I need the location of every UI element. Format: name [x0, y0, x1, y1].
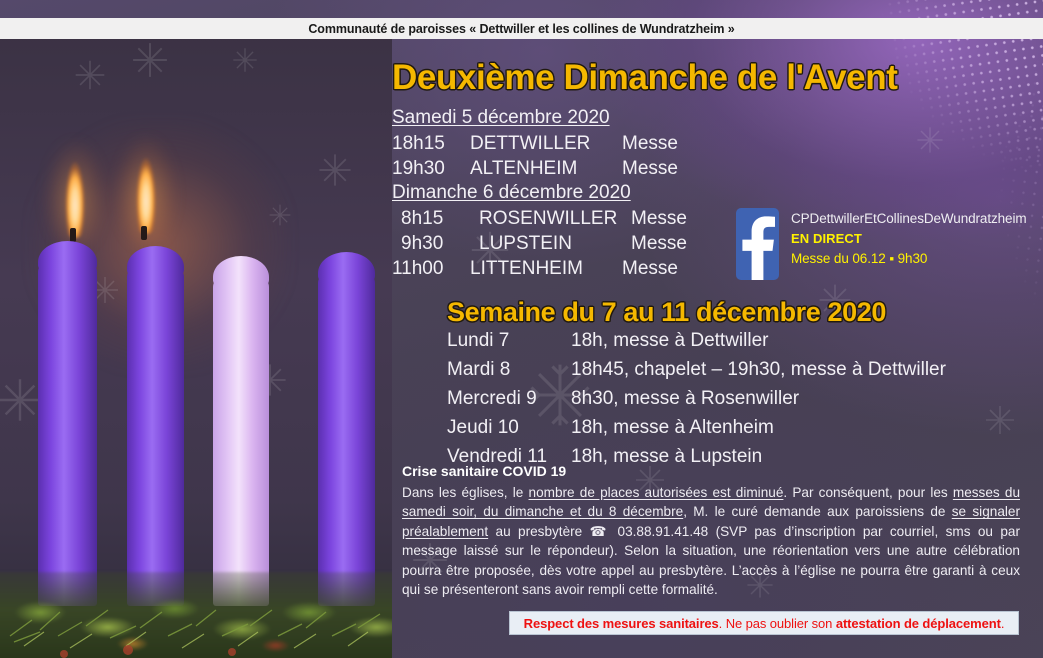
advent-candles-photo — [0, 30, 392, 658]
community-header-title: Communauté de paroisses « Dettwiller et … — [308, 22, 734, 36]
candle-flame-1 — [62, 152, 88, 238]
facebook-icon[interactable] — [736, 208, 779, 280]
telephone-icon: ☎ — [590, 524, 611, 539]
banner-end: . — [1001, 616, 1005, 631]
covid-notice: Crise sanitaire COVID 19 Dans les église… — [402, 463, 1020, 599]
facebook-page-name[interactable]: CPDettwillerEtCollinesDeWundratzheim — [791, 211, 1027, 226]
service-time: 9h30 — [392, 231, 479, 256]
weekday-row: Jeudi 10 18h, messe à Altenheim — [447, 413, 946, 442]
service-place: ALTENHEIM — [470, 156, 622, 181]
candle-wick-2 — [141, 226, 147, 240]
service-place: ROSENWILLER — [479, 206, 631, 231]
service-time: 8h15 — [392, 206, 479, 231]
sanitary-measures-banner: Respect des mesures sanitaires. Ne pas o… — [509, 611, 1019, 635]
banner-mid: . Ne pas oublier son — [719, 616, 836, 631]
schedule-row: 19h30 ALTENHEIM Messe — [392, 156, 712, 181]
candle-purple-1 — [38, 261, 97, 606]
covid-text-2: . Par conséquent, pour les — [783, 485, 952, 500]
candle-rose-3 — [213, 276, 269, 606]
covid-underline-1: nombre de places autorisées est diminué — [529, 485, 784, 500]
service-type: Messe — [622, 131, 712, 156]
facebook-live-block[interactable]: CPDettwillerEtCollinesDeWundratzheim EN … — [736, 208, 1027, 280]
week-title: Semaine du 7 au 11 décembre 2020 — [447, 297, 886, 328]
weekday-schedule: Lundi 7 18h, messe à Dettwiller Mardi 8 … — [447, 326, 946, 471]
banner-bold-1: Respect des mesures sanitaires — [524, 616, 719, 631]
weekday-info: 18h, messe à Dettwiller — [571, 326, 768, 355]
covid-text-4: au presbytère — [488, 524, 589, 539]
candle-purple-2 — [127, 266, 184, 606]
service-time: 11h00 — [392, 256, 470, 281]
covid-heading: Crise sanitaire COVID 19 — [402, 463, 1020, 479]
sunday-schedule: Dimanche 6 décembre 2020 8h15 ROSENWILLE… — [392, 182, 721, 281]
schedule-row: 9h30 LUPSTEIN Messe — [392, 231, 721, 256]
covid-phone-number: 03.88.91.41.48 — [610, 524, 708, 539]
banner-bold-2: attestation de déplacement — [836, 616, 1001, 631]
saturday-date: Samedi 5 décembre 2020 — [392, 107, 712, 129]
service-type: Messe — [622, 156, 712, 181]
weekday-info: 18h, messe à Altenheim — [571, 413, 774, 442]
candle-flame-2 — [133, 148, 159, 234]
weekday-info: 8h30, messe à Rosenwiller — [571, 384, 799, 413]
candle-wick-1 — [70, 228, 76, 242]
service-type: Messe — [622, 256, 712, 281]
covid-text-3: , M. le curé demande aux paroissiens de — [683, 504, 952, 519]
main-title: Deuxième Dimanche de l'Avent — [392, 58, 897, 98]
schedule-row: 18h15 DETTWILLER Messe — [392, 131, 712, 156]
sunday-date: Dimanche 6 décembre 2020 — [392, 182, 721, 204]
weekday-row: Mardi 8 18h45, chapelet – 19h30, messe à… — [447, 355, 946, 384]
community-header-bar: Communauté de paroisses « Dettwiller et … — [0, 18, 1043, 39]
facebook-live-label: EN DIRECT — [791, 231, 1027, 246]
service-type: Messe — [631, 231, 721, 256]
service-type: Messe — [631, 206, 721, 231]
weekday-name: Lundi 7 — [447, 326, 571, 355]
schedule-row: 8h15 ROSENWILLER Messe — [392, 206, 721, 231]
service-place: DETTWILLER — [470, 131, 622, 156]
service-place: LITTENHEIM — [470, 256, 622, 281]
service-time: 18h15 — [392, 131, 470, 156]
covid-body: Dans les églises, le nombre de places au… — [402, 483, 1020, 599]
facebook-live-detail: Messe du 06.12 ▪ 9h30 — [791, 251, 1027, 266]
service-place: LUPSTEIN — [479, 231, 631, 256]
service-time: 19h30 — [392, 156, 470, 181]
sanitary-measures-text: Respect des mesures sanitaires. Ne pas o… — [524, 616, 1005, 631]
schedule-row: 11h00 LITTENHEIM Messe — [392, 256, 721, 281]
advent-poster: Communauté de paroisses « Dettwiller et … — [0, 0, 1043, 658]
weekday-name: Jeudi 10 — [447, 413, 571, 442]
saturday-schedule: Samedi 5 décembre 2020 18h15 DETTWILLER … — [392, 107, 712, 181]
candle-purple-4 — [318, 272, 375, 606]
weekday-name: Mardi 8 — [447, 355, 571, 384]
weekday-name: Mercredi 9 — [447, 384, 571, 413]
covid-text-1: Dans les églises, le — [402, 485, 529, 500]
evergreen-sprigs — [0, 566, 392, 658]
weekday-row: Mercredi 9 8h30, messe à Rosenwiller — [447, 384, 946, 413]
weekday-info: 18h45, chapelet – 19h30, messe à Dettwil… — [571, 355, 946, 384]
weekday-row: Lundi 7 18h, messe à Dettwiller — [447, 326, 946, 355]
